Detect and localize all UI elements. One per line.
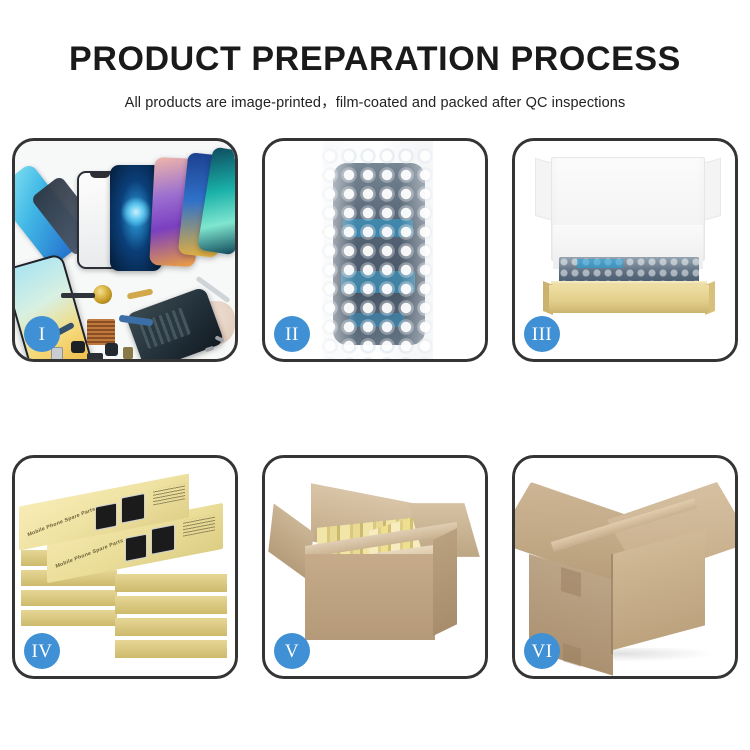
retail-box-side-7 bbox=[115, 618, 227, 636]
box-spec-lines-1 bbox=[153, 483, 185, 505]
step-badge-5: V bbox=[274, 633, 310, 669]
carton-corner-seam bbox=[611, 554, 613, 654]
earpiece-mesh-part bbox=[61, 293, 95, 298]
flex-cable-gold bbox=[127, 288, 154, 299]
retail-box-side-5 bbox=[115, 574, 227, 592]
button-part bbox=[123, 347, 133, 359]
step-panel-2[interactable]: II bbox=[262, 138, 488, 362]
steps-grid: I II bbox=[12, 138, 738, 683]
notch bbox=[90, 173, 110, 178]
retail-box-side-6 bbox=[115, 596, 227, 614]
mailer-front-wall bbox=[549, 285, 709, 313]
page-title: PRODUCT PREPARATION PROCESS bbox=[0, 0, 750, 76]
bag-sheen bbox=[323, 141, 433, 359]
copper-mesh-part bbox=[87, 319, 115, 345]
retail-box-side-4 bbox=[21, 610, 117, 626]
box-spec-lines-2 bbox=[183, 514, 215, 536]
step-badge-2: II bbox=[274, 316, 310, 352]
retail-box-label-1: Mobile Phone Spare Parts bbox=[27, 506, 96, 538]
carton-side-face bbox=[433, 528, 457, 636]
step-panel-5[interactable]: V bbox=[262, 455, 488, 679]
step-panel-4[interactable]: Mobile Phone Spare Parts Mobile Phone Sp… bbox=[12, 455, 238, 679]
header: PRODUCT PREPARATION PROCESS All products… bbox=[0, 0, 750, 112]
retail-box-side-8 bbox=[115, 640, 227, 658]
jellyfish-glow bbox=[121, 197, 151, 227]
step-badge-6: VI bbox=[524, 633, 560, 669]
box-art-screen-4 bbox=[151, 524, 175, 555]
step-badge-1: I bbox=[24, 316, 60, 352]
sim-tray-part bbox=[51, 347, 63, 359]
box-art-screen-2 bbox=[121, 493, 145, 524]
product-preparation-infographic: PRODUCT PREPARATION PROCESS All products… bbox=[0, 0, 750, 750]
step-panel-1[interactable]: I bbox=[12, 138, 238, 362]
step-badge-4: IV bbox=[24, 633, 60, 669]
carton-front-face bbox=[305, 554, 435, 640]
speaker-part bbox=[87, 353, 103, 359]
box-art-screen-1 bbox=[95, 502, 117, 530]
speaker-coil-part bbox=[93, 285, 112, 304]
contents-blue-label bbox=[577, 259, 623, 268]
camera-module-part bbox=[71, 341, 85, 353]
step-panel-3[interactable]: III bbox=[512, 138, 738, 362]
retail-box-side-3 bbox=[21, 590, 117, 606]
step-panel-6[interactable]: VI bbox=[512, 455, 738, 679]
retail-box-label-2: Mobile Phone Spare Parts bbox=[55, 538, 124, 570]
step-badge-3: III bbox=[524, 316, 560, 352]
page-subtitle: All products are image-printed，film-coat… bbox=[0, 76, 750, 112]
camera-module-part-2 bbox=[105, 343, 118, 356]
box-art-screen-3 bbox=[125, 534, 147, 562]
